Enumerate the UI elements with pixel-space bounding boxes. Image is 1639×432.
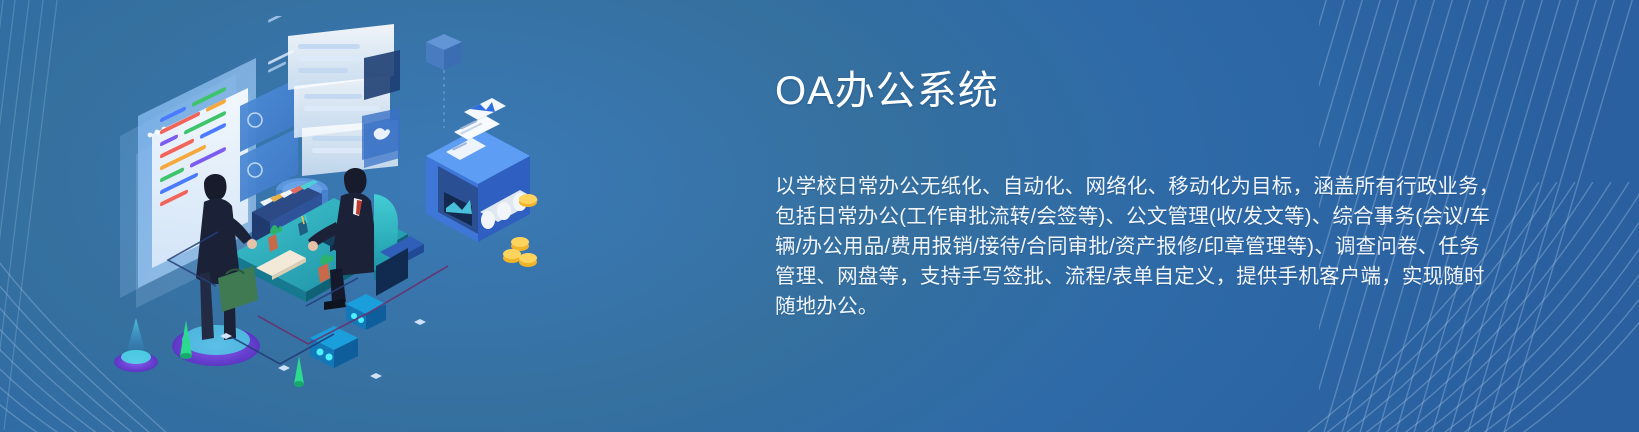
description-line: 辆/办公用品/费用报销/接待/合同审批/资产报修/印章管理等)、调查问卷、任务 [775,232,1465,262]
oa-system-banner: OA办公系统 以学校日常办公无纸化、自动化、网络化、移动化为目标，涵盖所有行政业… [0,0,1639,432]
description-line: 随地办公。 [775,292,1465,322]
printer-machine [426,98,538,267]
network-nodes [310,294,386,368]
glowing-pedestal [114,318,158,372]
description-line: 以学校日常办公无纸化、自动化、网络化、移动化为目标，涵盖所有行政业务， [775,172,1465,202]
page-description: 以学校日常办公无纸化、自动化、网络化、移动化为目标，涵盖所有行政业务， 包括日常… [775,172,1465,322]
hologram-cone [294,356,304,387]
page-title: OA办公系统 [775,68,1465,114]
description-line: 包括日常办公(工作审批流转/会签等)、公文管理(收/发文等)、综合事务(会议/车 [775,202,1465,232]
network-nodes [426,34,462,128]
isometric-office-illustration [108,16,538,416]
description-line: 管理、网盘等，支持手写签批、流程/表单自定义，提供手机客户端，实现随时 [775,262,1465,292]
banner-copy: OA办公系统 以学校日常办公无纸化、自动化、网络化、移动化为目标，涵盖所有行政业… [775,68,1465,322]
